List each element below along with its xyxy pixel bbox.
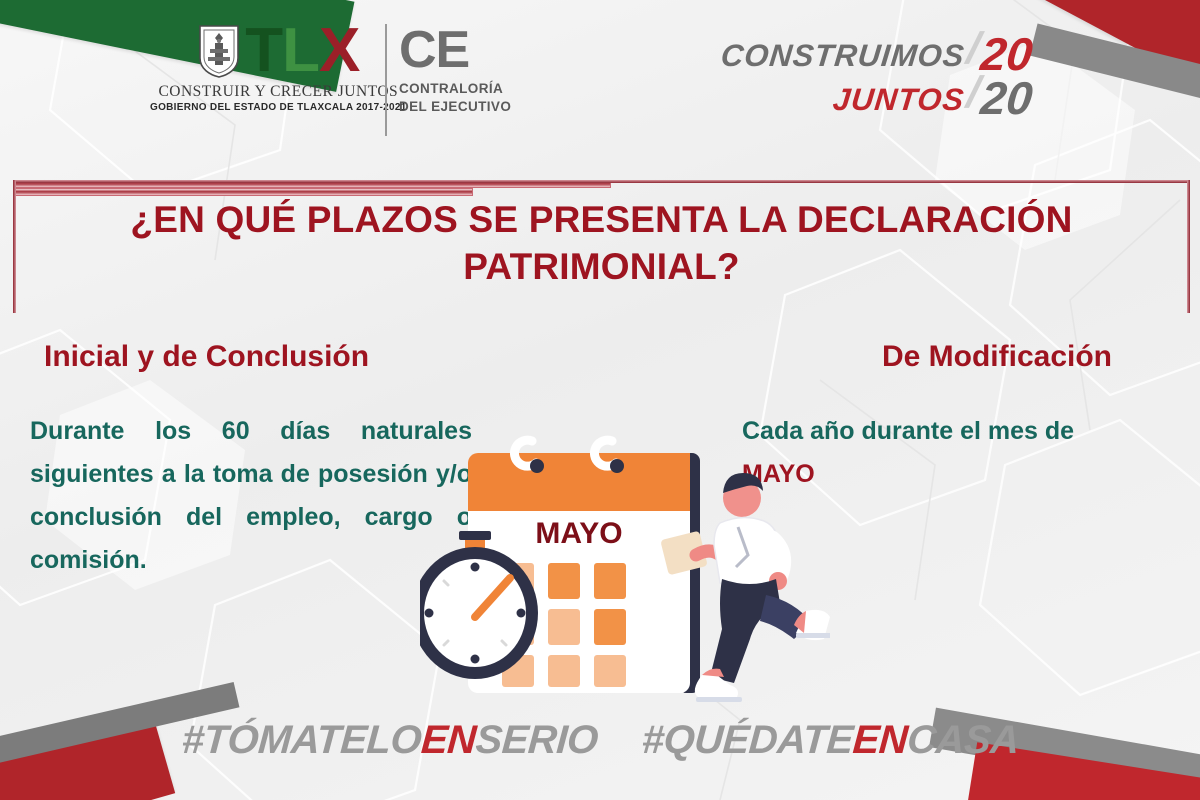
cj-word-juntos: JUNTOS bbox=[832, 82, 967, 118]
tlx-government-logo: TLX CONSTRUIR Y CRECER JUNTOS GOBIERNO D… bbox=[150, 22, 407, 113]
person-pants bbox=[710, 579, 780, 683]
cj-number-top: 20 bbox=[979, 35, 1034, 74]
decor-band-top-left-gray bbox=[0, 0, 280, 16]
calendar-header-band bbox=[468, 453, 690, 511]
tlx-letter-x: X bbox=[319, 16, 359, 85]
tlx-letter-t: T bbox=[245, 16, 282, 85]
tlaxcala-shield-icon bbox=[197, 23, 241, 79]
hashtag-2-pre: #QUÉDATE bbox=[640, 718, 854, 762]
ce-line2: DEL EJECUTIVO bbox=[399, 98, 511, 115]
title-box-border-bottom-right bbox=[13, 188, 473, 196]
tlx-letter-l: L bbox=[282, 16, 319, 85]
decor-band-top-right-gray bbox=[1030, 23, 1200, 113]
page-title: ¿EN QUÉ PLAZOS SE PRESENTA LA DECLARACIÓ… bbox=[13, 196, 1190, 291]
calendar-ring-left-hole bbox=[530, 459, 544, 473]
cj-word-construimos: CONSTRUIMOS bbox=[719, 38, 966, 74]
cj-number-bottom: 20 bbox=[979, 79, 1034, 118]
column-heading-modificacion: De Modificación bbox=[882, 340, 1112, 374]
ce-line1: CONTRALORÍA bbox=[399, 80, 511, 97]
illustration-group: MAYO bbox=[420, 435, 830, 720]
hashtag-2-mid: EN bbox=[851, 718, 909, 762]
construimos-juntos-logo: CONSTRUIMOS / 20 JUNTOS / 20 bbox=[721, 24, 1032, 118]
hashtag-tomatelo-en-serio: #TÓMATELOENSERIO bbox=[180, 718, 599, 763]
hashtag-1-pre: #TÓMATELO bbox=[180, 718, 422, 762]
hashtag-1-mid: EN bbox=[419, 718, 477, 762]
hashtag-2-post: CASA bbox=[906, 718, 1020, 762]
hashtag-row: #TÓMATELOENSERIO #QUÉDATEENCASA bbox=[0, 718, 1200, 763]
contraloria-logo: CE CONTRALORÍA DEL EJECUTIVO bbox=[399, 26, 511, 115]
title-box: ¿EN QUÉ PLAZOS SE PRESENTA LA DECLARACIÓ… bbox=[13, 180, 1190, 313]
column-body-inicial: Durante los 60 días naturales siguientes… bbox=[30, 410, 472, 582]
logo-divider bbox=[385, 24, 387, 136]
hashtag-1-post: SERIO bbox=[474, 718, 599, 762]
calendar-month-label: MAYO bbox=[535, 517, 622, 550]
hashtag-quedate-en-casa: #QUÉDATEENCASA bbox=[640, 718, 1020, 763]
column-heading-inicial: Inicial y de Conclusión bbox=[44, 340, 369, 374]
calendar-ring-right-hole bbox=[610, 459, 624, 473]
tlx-tagline: CONSTRUIR Y CRECER JUNTOS bbox=[158, 83, 398, 101]
ce-word: CE bbox=[399, 26, 511, 75]
title-box-border-top bbox=[13, 180, 1190, 183]
poster-canvas: TLX CONSTRUIR Y CRECER JUNTOS GOBIERNO D… bbox=[0, 0, 1200, 800]
tlx-subtagline: GOBIERNO DEL ESTADO DE TLAXCALA 2017-202… bbox=[150, 102, 407, 113]
